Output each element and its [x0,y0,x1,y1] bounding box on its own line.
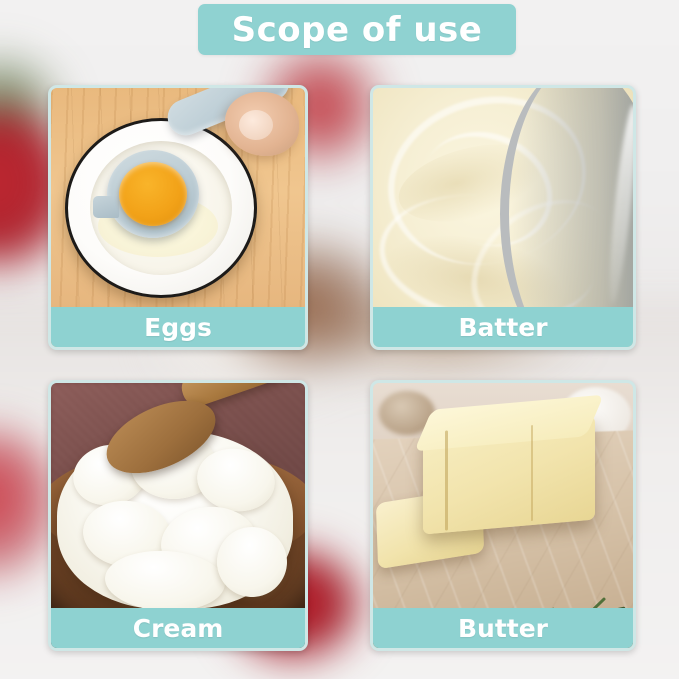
caption-bar-butter: Butter [373,608,633,648]
caption-label-eggs: Eggs [144,315,212,340]
photo-butter: Butter [373,383,633,648]
butter-cut-line [531,425,533,521]
egg-separator-tool [107,150,199,238]
card-butter[interactable]: Butter [370,380,636,651]
photo-cream: Cream [51,383,305,648]
caption-bar-cream: Cream [51,608,305,648]
caption-label-cream: Cream [133,616,224,641]
card-batter[interactable]: Batter [370,85,636,350]
caption-label-butter: Butter [458,616,548,641]
butter-cut-line [445,430,448,530]
butter-block [423,415,595,534]
scope-of-use-grid: Eggs Batter [0,0,679,679]
photo-batter: Batter [373,88,633,347]
caption-label-batter: Batter [458,315,547,340]
butter-top-face [414,395,604,452]
thumbnail [239,110,273,140]
separator-tab [93,196,119,218]
egg-yolk [119,162,187,226]
photo-eggs: Eggs [51,88,305,347]
card-eggs[interactable]: Eggs [48,85,308,350]
caption-bar-eggs: Eggs [51,307,305,347]
card-cream[interactable]: Cream [48,380,308,651]
caption-bar-batter: Batter [373,307,633,347]
